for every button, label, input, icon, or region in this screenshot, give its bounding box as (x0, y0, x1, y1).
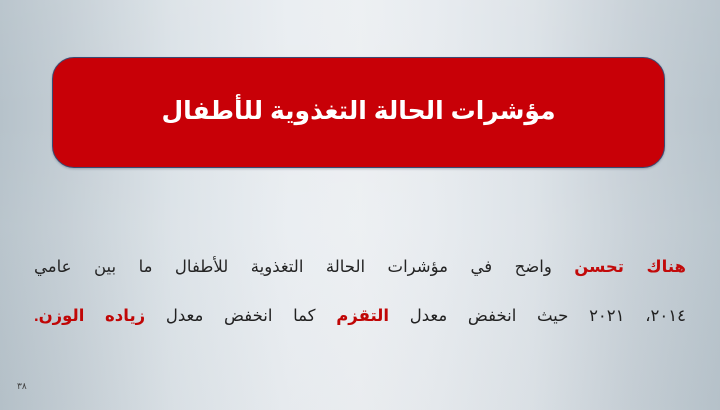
highlight-hunaak-tahassun: هناك تحسن (574, 258, 686, 276)
body-paragraph: هناك تحسن واضح في مؤشرات الحالة التغذوية… (34, 243, 686, 341)
page-number: ٣٨ (17, 381, 27, 392)
line2-plain-text-1: ٢٠١٤، ٢٠٢١ حيث انخفض معدل (389, 307, 686, 325)
line1-plain-text: واضح في مؤشرات الحالة التغذوية للأطفال م… (34, 258, 574, 276)
slide-canvas: مؤشرات الحالة التغذوية للأطفال هناك تحسن… (0, 0, 720, 410)
paragraph-line-1: هناك تحسن واضح في مؤشرات الحالة التغذوية… (34, 243, 686, 292)
highlight-ziyadat-alwazn: زياده الوزن. (34, 307, 145, 325)
highlight-altaqazzum: التقزم (336, 307, 389, 325)
paragraph-line-2: ٢٠١٤، ٢٠٢١ حيث انخفض معدل التقزم كما انخ… (34, 292, 686, 341)
line2-plain-text-2: كما انخفض معدل (145, 307, 336, 325)
title-banner: مؤشرات الحالة التغذوية للأطفال (52, 57, 665, 168)
page-title: مؤشرات الحالة التغذوية للأطفال (143, 96, 573, 127)
